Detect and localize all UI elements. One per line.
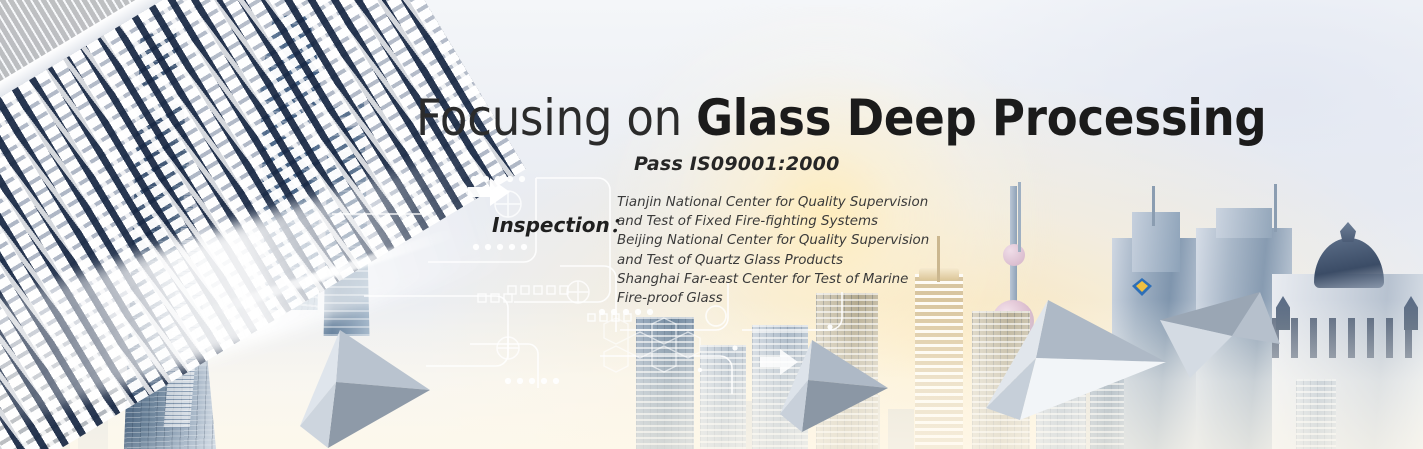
office-tower-b-top <box>1216 208 1272 238</box>
list-item: and Test of Fixed Fire-fighting Systems <box>617 212 929 231</box>
list-item: and Test of Quartz Glass Products <box>617 251 929 270</box>
polygon-dart-far-right <box>1160 292 1280 378</box>
list-item: Shanghai Far-east Center for Test of Mar… <box>617 270 929 289</box>
oriental-pearl-antenna <box>1018 182 1021 252</box>
inspection-institution-list: Tianjin National Center for Quality Supe… <box>617 193 929 308</box>
center-tower-spire <box>937 236 940 282</box>
hero-banner: Focusing on Glass Deep Processing Pass I… <box>0 0 1423 449</box>
polygon-dart-right <box>986 300 1166 420</box>
bank-emblem-icon <box>1132 278 1152 296</box>
inspection-label: Inspection： <box>492 209 630 238</box>
list-item: Fire-proof Glass <box>617 289 929 308</box>
office-tower-a-top <box>1132 212 1180 272</box>
oriental-pearl-sphere-upper <box>1003 244 1025 266</box>
polygon-dart-left <box>300 330 430 448</box>
list-item: Tianjin National Center for Quality Supe… <box>617 193 929 212</box>
headline-bold: Glass Deep Processing <box>696 89 1266 147</box>
headline-light: Focusing on <box>416 89 696 147</box>
certification-badge: Pass IS09001:2000 <box>634 153 840 175</box>
polygon-dart-center <box>780 340 888 432</box>
office-tower-a-spire <box>1152 186 1155 226</box>
office-tower-b-spire <box>1274 184 1277 232</box>
list-item: Beijing National Center for Quality Supe… <box>617 231 929 250</box>
page-title: Focusing on Glass Deep Processing <box>416 92 1266 145</box>
